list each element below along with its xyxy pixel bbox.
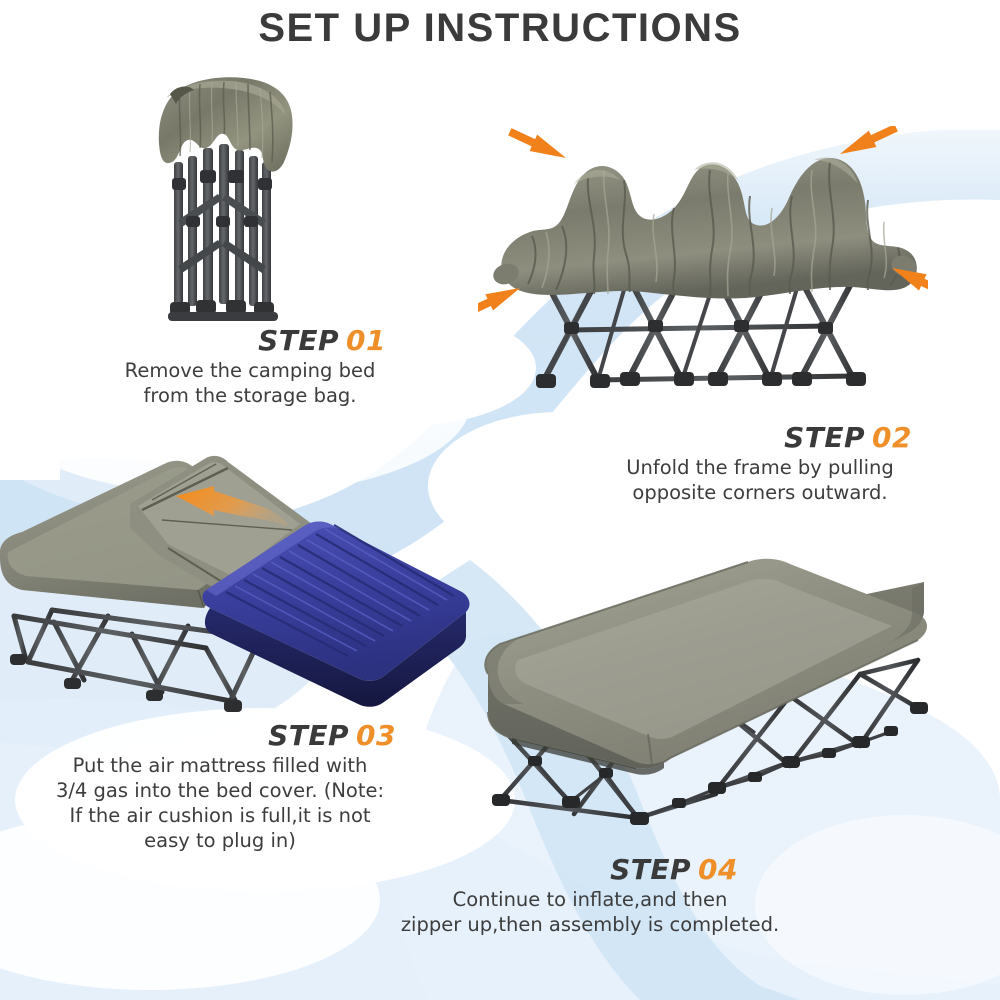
step-caption-03: Put the air mattress filled with 3/4 gas… — [20, 754, 420, 854]
instruction-poster: SET UP INSTRUCTIONS — [0, 0, 1000, 1000]
page-title: SET UP INSTRUCTIONS — [0, 6, 1000, 51]
illustration-unfolded-frame — [478, 126, 928, 416]
step-word-03: STEP — [268, 719, 349, 752]
illustration-completed-bed — [478, 556, 938, 866]
illustration-folded-camping-bed — [132, 70, 312, 332]
step-word-02: STEP — [784, 421, 865, 454]
step-label-03: STEP03 — [20, 721, 420, 750]
step-caption-01: Remove the camping bed from the storage … — [40, 359, 460, 409]
step-block-03: STEP03 Put the air mattress filled with … — [20, 721, 420, 854]
step-word-04: STEP — [610, 853, 691, 886]
step-caption-04: Continue to inflate,and then zipper up,t… — [380, 888, 800, 938]
step-block-01: STEP01 Remove the camping bed from the s… — [40, 326, 460, 409]
step-block-02: STEP02 Unfold the frame by pulling oppos… — [560, 423, 960, 506]
step-number-03: 03 — [356, 719, 396, 752]
step-number-02: 02 — [872, 421, 912, 454]
step-word-01: STEP — [258, 324, 339, 357]
illustration-mattress-into-cover — [0, 440, 482, 725]
step-number-01: 01 — [346, 324, 386, 357]
step-label-02: STEP02 — [560, 423, 960, 452]
step-caption-02: Unfold the frame by pulling opposite cor… — [560, 456, 960, 506]
step-number-04: 04 — [698, 853, 738, 886]
step-block-04: STEP04 Continue to inflate,and then zipp… — [380, 855, 800, 938]
step-label-01: STEP01 — [40, 326, 460, 355]
step-label-04: STEP04 — [380, 855, 800, 884]
